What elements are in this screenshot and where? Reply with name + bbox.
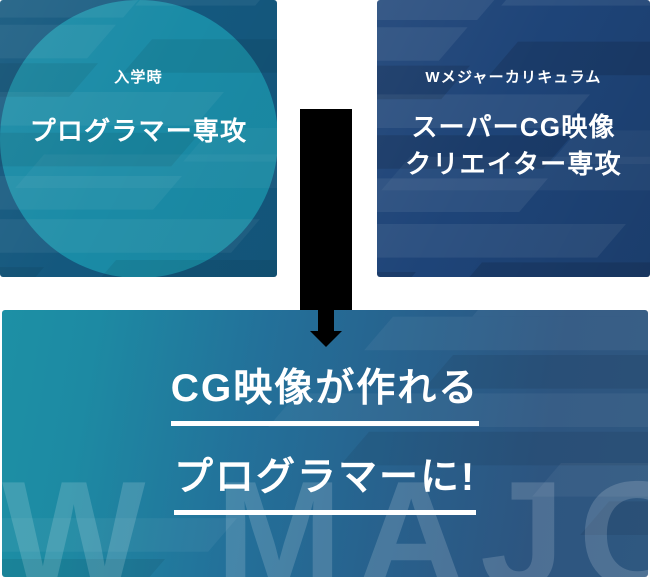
curriculum-headline-line2: クリエイター専攻 — [405, 149, 622, 179]
curriculum-eyebrow: Wメジャーカリキュラム — [425, 66, 601, 87]
panel-result: W MAJOR CG映像が作れる プログラマーに! — [2, 310, 648, 577]
panel-curriculum-content: Wメジャーカリキュラム スーパーCG映像 クリエイター専攻 — [377, 0, 650, 277]
panel-admission: 入学時 プログラマー専攻 — [0, 0, 277, 277]
panel-curriculum: Wメジャーカリキュラム スーパーCG映像 クリエイター専攻 — [377, 0, 650, 277]
admission-headline: プログラマー専攻 — [30, 113, 248, 150]
result-row-2: プログラマーに! — [2, 455, 648, 515]
arrow-shaft-wide — [300, 109, 352, 310]
panel-result-content: CG映像が作れる プログラマーに! — [2, 366, 648, 515]
admission-eyebrow: 入学時 — [114, 66, 163, 87]
panel-admission-content: 入学時 プログラマー専攻 — [0, 0, 277, 277]
result-headline-line1: CG映像が作れる — [171, 366, 480, 426]
result-row-1: CG映像が作れる — [2, 366, 648, 426]
curriculum-headline: スーパーCG映像 クリエイター専攻 — [405, 109, 622, 183]
result-headline-line2: プログラマーに! — [174, 455, 476, 515]
curriculum-headline-line1: スーパーCG映像 — [411, 112, 615, 142]
